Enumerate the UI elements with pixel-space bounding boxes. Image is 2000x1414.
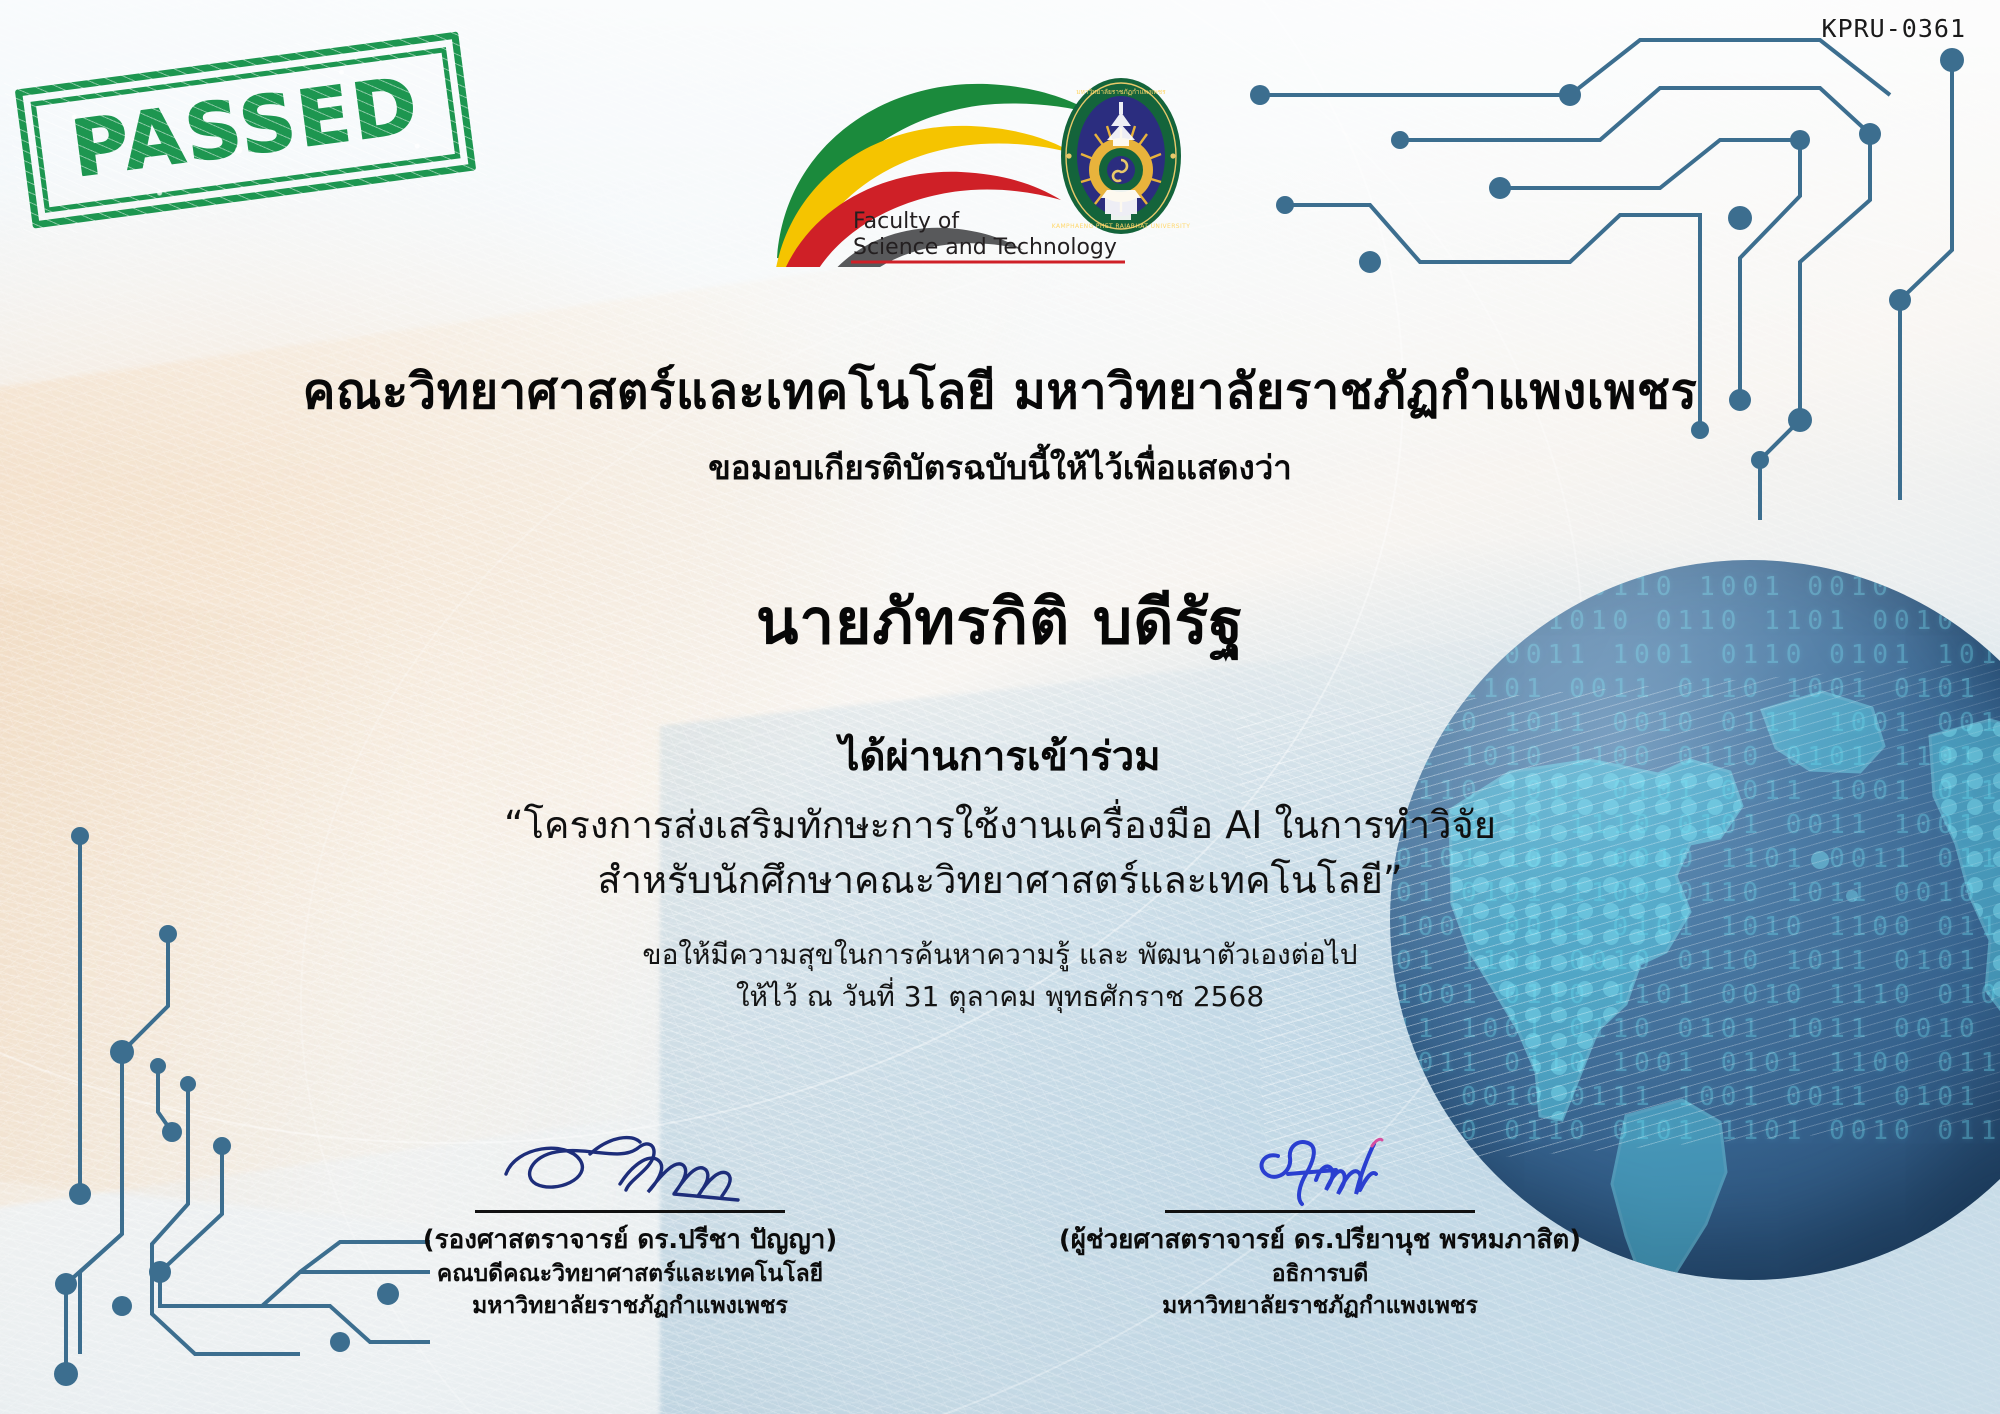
signature-block-dean: (รองศาสตราจารย์ ดร.ปรีชา ปัญญา) คณบดีคณะ… xyxy=(330,1128,930,1322)
seal-thai-text: มหาวิทยาลัยราชภัฏกำแพงเพชร xyxy=(1076,88,1166,96)
passed-stamp-label: PASSED xyxy=(67,67,423,190)
certificate-id: KPRU-0361 xyxy=(1822,14,1966,43)
logo-faculty-line2: Science and Technology xyxy=(853,235,1117,260)
university-seal-icon: มหาวิทยาลัยราชภัฏกำแพงเพชร KAMPHAENG PHE… xyxy=(1052,78,1191,234)
handwritten-signature-icon xyxy=(1160,1128,1480,1210)
signature-title-dean: คณบดีคณะวิทยาศาสตร์และเทคโนโลยี xyxy=(330,1258,930,1290)
signature-affiliation-president: มหาวิทยาลัยราชภัฏกำแพงเพชร xyxy=(1000,1290,1640,1322)
signature-mark-dean xyxy=(330,1128,930,1210)
signature-affiliation-dean: มหาวิทยาลัยราชภัฏกำแพงเพชร xyxy=(330,1290,930,1322)
signature-rule-dean xyxy=(475,1210,785,1213)
project-title: “โครงการส่งเสริมทักษะการใช้งานเครื่องมือ… xyxy=(0,798,2000,908)
signature-name-dean: (รองศาสตราจารย์ ดร.ปรีชา ปัญญา) xyxy=(330,1223,930,1258)
handwritten-signature-icon xyxy=(470,1128,790,1210)
project-title-line-1: “โครงการส่งเสริมทักษะการใช้งานเครื่องมือ… xyxy=(0,798,2000,853)
date-line: ให้ไว้ ณ วันที่ 31 ตุลาคม พุทธศักราช 256… xyxy=(0,976,2000,1018)
seal-english-text: KAMPHAENG PHET RAJABHAT UNIVERSITY xyxy=(1052,223,1191,230)
signature-name-president: (ผู้ช่วยศาสตราจารย์ ดร.ปรียานุช พรหมภาสิ… xyxy=(1000,1223,1640,1258)
recipient-name: นายภัทรกิติ บดีรัฐ xyxy=(0,573,2000,671)
award-line: ขอมอบเกียรติบัตรฉบับนี้ให้ไว้เพื่อแสดงว่… xyxy=(0,441,2000,494)
signature-title-president: อธิการบดี xyxy=(1000,1258,1640,1290)
organization-heading: คณะวิทยาศาสตร์และเทคโนโลยี มหาวิทยาลัยรา… xyxy=(0,352,2000,430)
certificate-page: 01001101 0110 1001 0010 1101 0011 0101 1… xyxy=(0,0,2000,1414)
participation-line: ได้ผ่านการเข้าร่วม xyxy=(0,724,2000,788)
logo-faculty-line1: Faculty of xyxy=(853,209,960,234)
signature-mark-president xyxy=(1000,1128,1640,1210)
wish-line: ขอให้มีความสุขในการค้นหาความรู้ และ พัฒน… xyxy=(0,934,2000,976)
project-title-line-2: สำหรับนักศึกษาคณะวิทยาศาสตร์และเทคโนโลยี… xyxy=(0,853,2000,908)
closing-block: ขอให้มีความสุขในการค้นหาความรู้ และ พัฒน… xyxy=(0,934,2000,1018)
signature-rule-president xyxy=(1165,1210,1475,1213)
faculty-logo: Faculty of Science and Technology xyxy=(765,62,1235,267)
signature-block-president: (ผู้ช่วยศาสตราจารย์ ดร.ปรียานุช พรหมภาสิ… xyxy=(1000,1128,1640,1322)
